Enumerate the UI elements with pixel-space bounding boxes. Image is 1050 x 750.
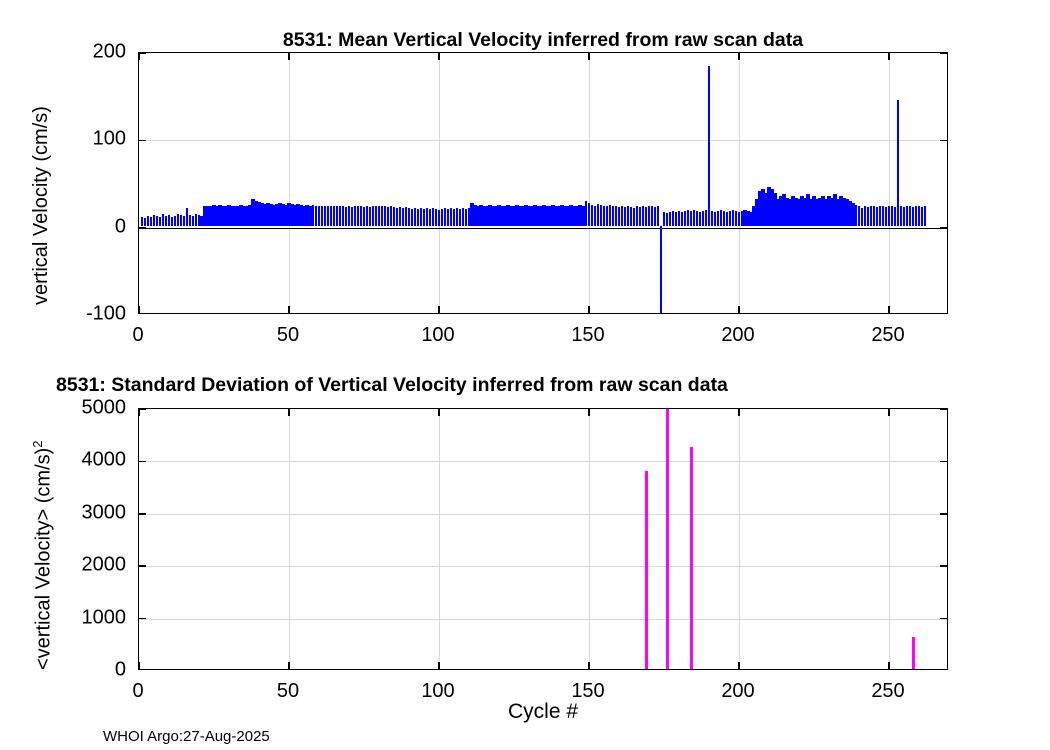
data-bar	[690, 211, 692, 226]
data-bar	[345, 207, 347, 225]
plot-area-std-velocity	[139, 409, 947, 669]
x-axis-tick-label: 150	[571, 324, 604, 347]
gridline-vertical	[889, 53, 890, 313]
data-bar	[324, 206, 326, 225]
x-axis-tick	[288, 306, 290, 313]
x-axis-tick	[738, 53, 740, 60]
data-bar	[153, 215, 155, 225]
chart-title-mean-velocity: 8531: Mean Vertical Velocity inferred fr…	[138, 29, 948, 52]
axes-mean-velocity	[138, 52, 948, 314]
data-bar	[702, 211, 704, 226]
data-bar	[660, 226, 662, 313]
data-bar	[591, 205, 593, 226]
data-bar	[363, 207, 365, 225]
data-bar	[612, 206, 614, 225]
data-bar	[915, 206, 917, 226]
data-bar	[192, 216, 194, 226]
data-bar	[885, 207, 887, 225]
data-bar	[387, 207, 389, 225]
data-bar	[186, 208, 188, 225]
x-axis-tick	[588, 306, 590, 313]
data-bar	[597, 204, 599, 226]
data-bar	[675, 212, 677, 226]
y-axis-label-mean-velocity: vertical Velocity (cm/s)	[30, 106, 53, 305]
data-bar	[630, 207, 632, 225]
data-bar	[333, 206, 335, 226]
gridline-vertical	[889, 409, 890, 669]
y-axis-tick	[139, 409, 146, 410]
data-bar	[174, 216, 176, 226]
data-bar	[147, 216, 149, 226]
y-axis-tick	[940, 618, 947, 620]
data-bar	[399, 207, 401, 225]
footer-credit: WHOI Argo:27-Aug-2025	[103, 728, 270, 745]
data-bar	[444, 208, 446, 225]
y-axis-tick	[940, 565, 947, 567]
gridline-horizontal	[139, 514, 947, 515]
data-bar	[882, 206, 884, 225]
gridline-vertical	[439, 53, 440, 313]
gridline-horizontal	[139, 140, 947, 141]
data-bar	[435, 209, 437, 226]
x-axis-tick	[288, 409, 290, 416]
data-bar	[921, 207, 923, 225]
y-axis-tick	[940, 461, 947, 463]
data-bar	[360, 206, 362, 225]
data-bar	[903, 207, 905, 225]
x-axis-tick	[738, 409, 740, 416]
gridline-vertical	[289, 53, 290, 313]
axes-std-velocity	[138, 408, 948, 670]
y-axis-label-base: <vertical Velocity> (cm/s)	[33, 448, 55, 670]
data-bar	[858, 206, 860, 225]
data-bar	[651, 206, 653, 225]
data-bar	[339, 206, 341, 226]
data-bar	[900, 206, 902, 225]
y-axis-tick	[940, 513, 947, 515]
data-bar	[681, 212, 683, 226]
data-bar	[627, 206, 629, 225]
x-axis-tick	[888, 409, 890, 416]
y-axis-label-exponent: 2	[30, 440, 45, 447]
data-bar	[585, 201, 587, 225]
data-bar	[414, 208, 416, 225]
data-bar	[636, 206, 638, 225]
data-bar	[342, 206, 344, 225]
data-bar	[912, 637, 915, 669]
data-bar	[645, 207, 647, 225]
data-bar	[420, 208, 422, 225]
y-axis-tick-label: 200	[16, 41, 126, 64]
x-axis-tick	[438, 306, 440, 313]
data-bar	[909, 206, 911, 225]
data-bar	[423, 209, 425, 226]
x-axis-tick	[438, 662, 440, 669]
data-bar	[384, 206, 386, 225]
x-axis-tick	[888, 662, 890, 669]
x-axis-label-cycle: Cycle #	[138, 700, 948, 724]
data-bar	[870, 206, 872, 226]
data-bar	[888, 206, 890, 226]
data-bar	[189, 215, 191, 225]
data-bar	[441, 209, 443, 226]
data-bar	[699, 212, 701, 226]
data-bar	[588, 203, 590, 226]
data-bar	[720, 210, 722, 226]
gridline-vertical	[739, 409, 740, 669]
data-bar	[723, 211, 725, 226]
data-bar	[603, 206, 605, 226]
gridline-horizontal	[139, 619, 947, 620]
data-bar	[417, 209, 419, 226]
data-bar	[183, 216, 185, 226]
data-bar	[411, 209, 413, 226]
y-axis-tick	[139, 140, 146, 142]
data-bar	[690, 447, 693, 669]
data-bar	[714, 212, 716, 226]
data-bar	[648, 206, 650, 226]
data-bar	[624, 207, 626, 225]
data-bar	[666, 213, 668, 226]
data-bar	[861, 208, 863, 225]
data-bar	[873, 206, 875, 225]
data-bar	[717, 211, 719, 226]
data-bar	[171, 217, 173, 226]
data-bar	[375, 206, 377, 226]
data-bar	[141, 217, 143, 226]
data-bar	[696, 211, 698, 226]
data-bar	[894, 207, 896, 225]
x-axis-tick-label: 250	[871, 324, 904, 347]
data-bar	[693, 210, 695, 226]
data-bar	[180, 215, 182, 225]
data-bar	[450, 208, 452, 225]
data-bar	[429, 209, 431, 226]
data-bar	[897, 100, 899, 226]
y-axis-tick-label: -100	[16, 303, 126, 326]
data-bar	[459, 209, 461, 226]
y-axis-label-std-velocity: <vertical Velocity> (cm/s)2	[30, 440, 56, 670]
chart-title-std-velocity: 8531: Standard Deviation of Vertical Vel…	[56, 374, 1041, 397]
data-bar	[447, 209, 449, 226]
data-bar	[906, 206, 908, 226]
x-axis-tick	[139, 409, 140, 416]
x-axis-tick	[588, 53, 590, 60]
data-bar	[732, 210, 734, 226]
data-bar	[654, 207, 656, 225]
data-bar	[867, 207, 869, 225]
data-bar	[336, 206, 338, 225]
gridline-horizontal	[139, 566, 947, 567]
data-bar	[402, 208, 404, 225]
data-bar	[144, 218, 146, 226]
data-bar	[465, 209, 467, 226]
plot-area-mean-velocity	[139, 53, 947, 313]
x-axis-tick	[588, 662, 590, 669]
gridline-vertical	[439, 409, 440, 669]
data-bar	[327, 206, 329, 226]
data-bar	[924, 206, 926, 226]
data-bar	[864, 206, 866, 225]
y-axis-tick	[139, 53, 146, 54]
x-axis-tick	[288, 662, 290, 669]
x-axis-tick	[438, 409, 440, 416]
data-bar	[381, 206, 383, 226]
data-bar	[735, 211, 737, 226]
data-bar	[390, 206, 392, 225]
data-bar	[432, 208, 434, 225]
data-bar	[462, 208, 464, 225]
y-axis-tick	[139, 461, 146, 463]
data-bar	[705, 210, 707, 226]
gridline-vertical	[289, 409, 290, 669]
x-axis-tick-label: 50	[277, 324, 299, 347]
data-bar	[729, 211, 731, 226]
x-axis-tick	[588, 409, 590, 416]
data-bar	[666, 409, 669, 669]
x-axis-tick-label: 0	[132, 324, 143, 347]
data-bar	[396, 208, 398, 225]
data-bar	[738, 212, 740, 226]
data-bar	[912, 207, 914, 225]
data-bar	[393, 207, 395, 225]
data-bar	[669, 212, 671, 226]
data-bar	[177, 214, 179, 225]
data-bar	[711, 211, 713, 226]
data-bar	[195, 214, 197, 225]
data-bar	[408, 208, 410, 225]
data-bar	[678, 211, 680, 226]
data-bar	[150, 217, 152, 226]
data-bar	[351, 207, 353, 225]
y-axis-tick	[940, 140, 947, 142]
x-axis-tick-label: 200	[721, 324, 754, 347]
data-bar	[879, 206, 881, 226]
x-axis-tick	[139, 662, 140, 669]
data-bar	[165, 216, 167, 226]
data-bar	[357, 206, 359, 226]
x-axis-tick	[738, 662, 740, 669]
data-bar	[615, 206, 617, 226]
data-bar	[426, 208, 428, 225]
x-axis-tick	[888, 306, 890, 313]
data-bar	[321, 206, 323, 226]
data-bar	[315, 206, 317, 226]
data-bar	[618, 207, 620, 225]
data-bar	[453, 209, 455, 226]
data-bar	[663, 212, 665, 226]
data-bar	[621, 206, 623, 225]
data-bar	[639, 207, 641, 225]
data-bar	[162, 214, 164, 225]
data-bar	[855, 205, 857, 226]
zero-baseline	[139, 228, 947, 230]
y-axis-tick	[940, 409, 947, 410]
data-bar	[918, 206, 920, 225]
y-axis-tick	[139, 565, 146, 567]
x-axis-tick	[139, 306, 140, 313]
data-bar	[438, 210, 440, 226]
data-bar	[672, 211, 674, 226]
data-bar	[369, 207, 371, 225]
data-bar	[456, 208, 458, 225]
data-bar	[642, 206, 644, 225]
data-bar	[657, 206, 659, 225]
data-bar	[159, 217, 161, 226]
data-bar	[708, 66, 710, 226]
data-bar	[687, 210, 689, 226]
data-bar	[645, 471, 648, 669]
data-bar	[633, 208, 635, 225]
data-bar	[168, 215, 170, 225]
gridline-vertical	[739, 53, 740, 313]
data-bar	[366, 206, 368, 225]
data-bar	[372, 206, 374, 225]
data-bar	[348, 206, 350, 225]
data-bar	[609, 205, 611, 226]
data-bar	[600, 205, 602, 226]
data-bar	[891, 206, 893, 225]
data-bar	[330, 206, 332, 225]
x-axis-tick	[438, 53, 440, 60]
y-axis-tick	[139, 513, 146, 515]
gridline-vertical	[589, 53, 590, 313]
data-bar	[156, 216, 158, 226]
data-bar	[684, 211, 686, 226]
data-bar	[318, 206, 320, 225]
data-bar	[312, 205, 314, 226]
gridline-horizontal	[139, 461, 947, 462]
data-bar	[726, 212, 728, 226]
x-axis-tick	[288, 53, 290, 60]
figure-canvas: 8531: Mean Vertical Velocity inferred fr…	[0, 0, 1050, 750]
x-axis-tick-label: 100	[421, 324, 454, 347]
x-axis-tick	[738, 306, 740, 313]
y-axis-tick	[139, 618, 146, 620]
x-axis-tick	[888, 53, 890, 60]
data-bar	[876, 207, 878, 225]
x-axis-tick	[139, 53, 140, 60]
data-bar	[405, 207, 407, 225]
data-bar	[378, 206, 380, 225]
data-bar	[354, 206, 356, 225]
gridline-vertical	[589, 409, 590, 669]
y-axis-tick-label: 5000	[16, 397, 126, 420]
data-bar	[594, 206, 596, 226]
y-axis-tick	[940, 53, 947, 54]
data-bar	[606, 206, 608, 225]
